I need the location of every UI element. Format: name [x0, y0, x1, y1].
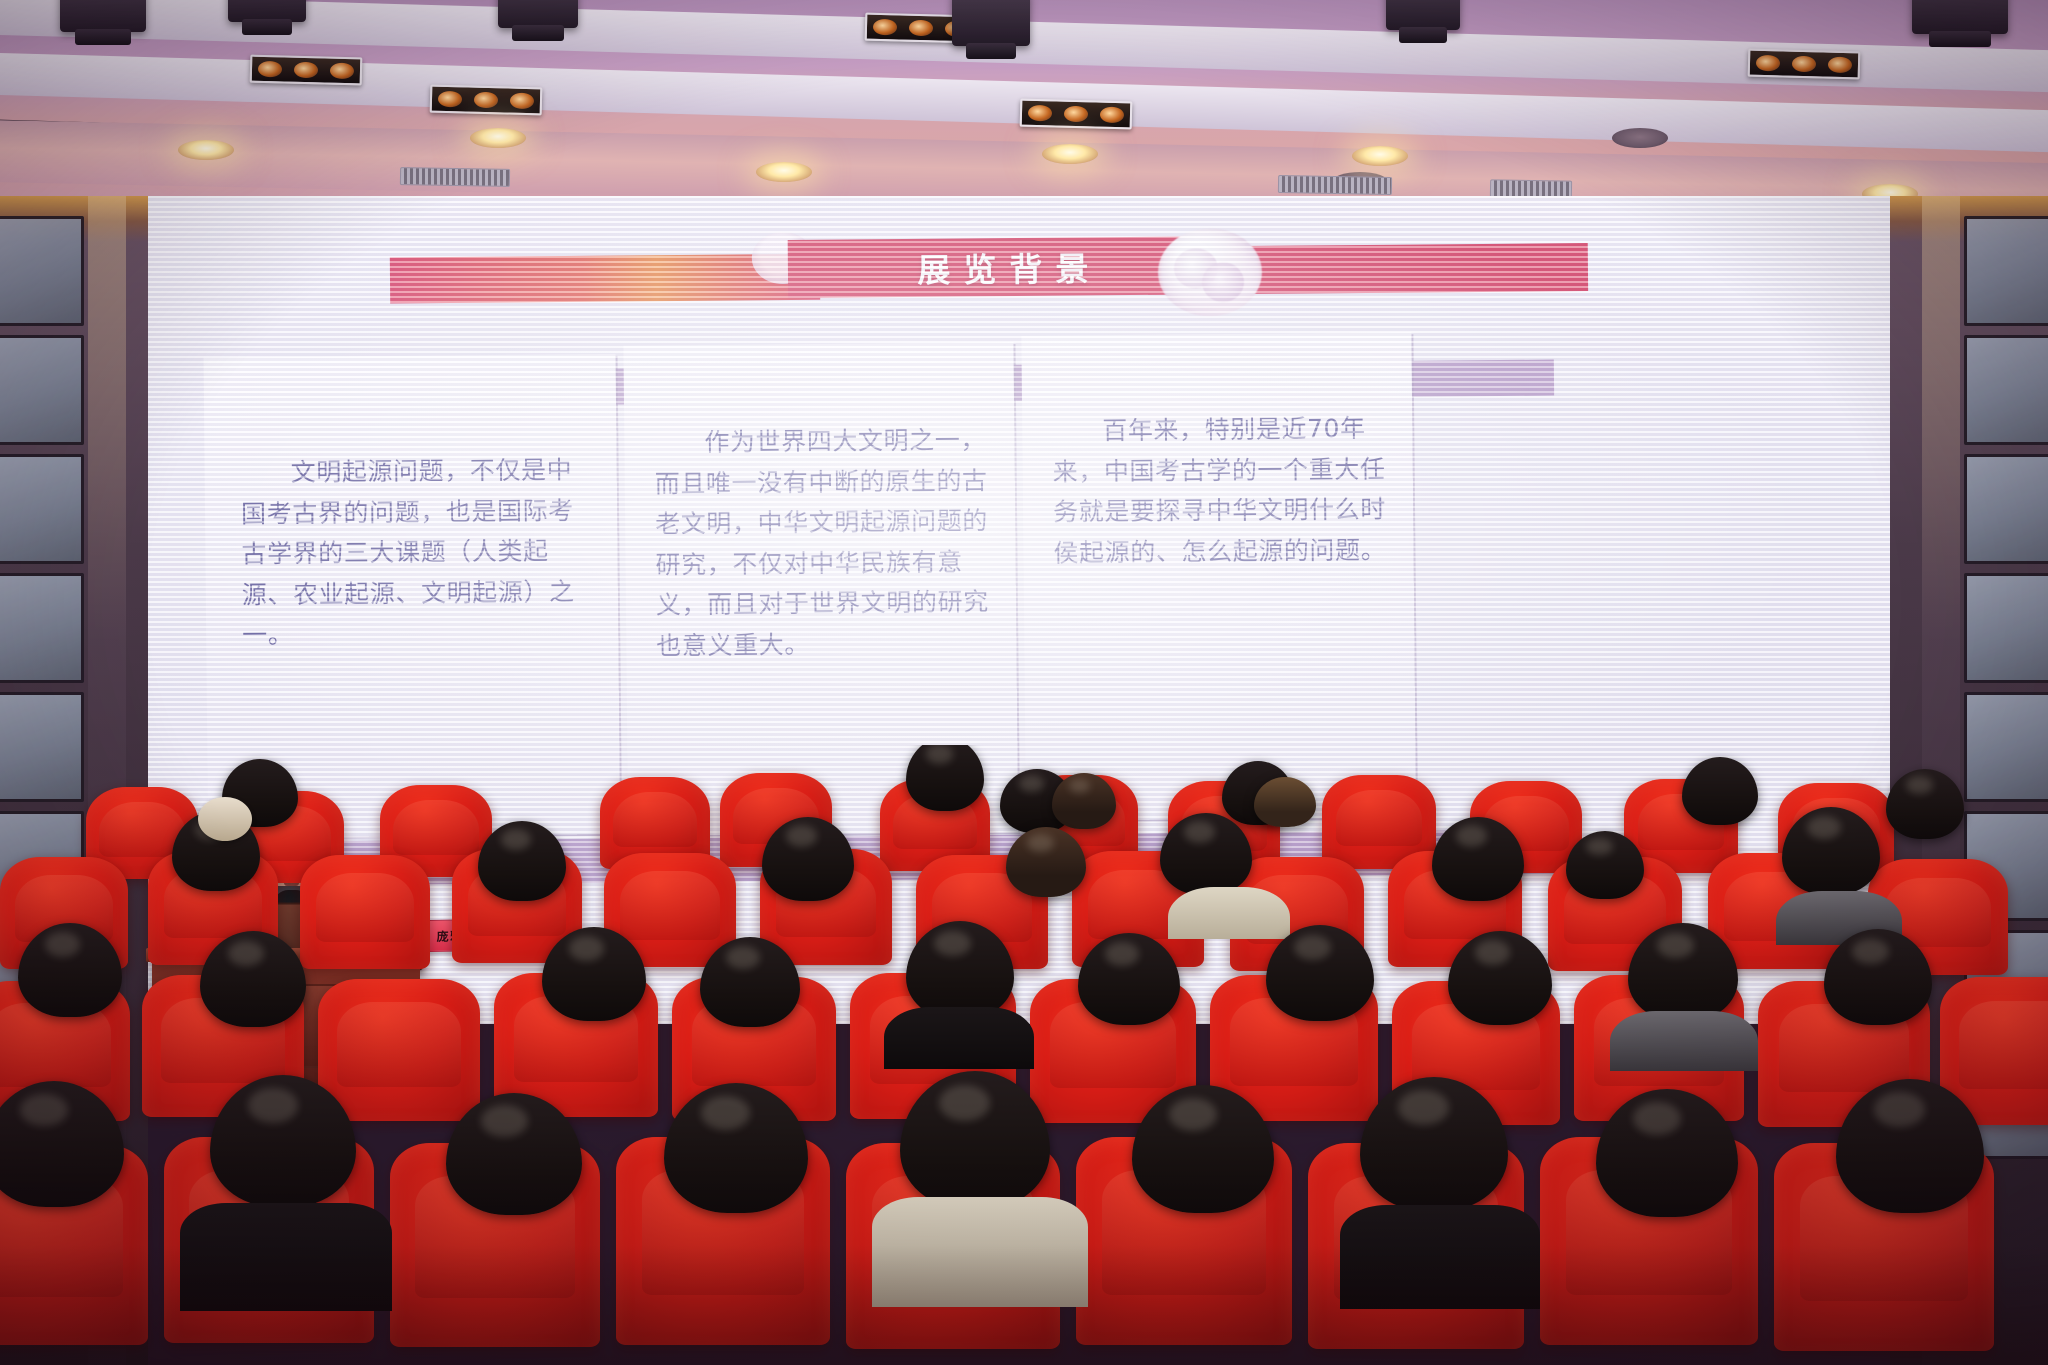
stage-light-fixture: [498, 0, 578, 28]
ceiling-spotlight-fixture: [430, 85, 543, 116]
stage-light-fixture: [60, 0, 146, 32]
audience-shoulders: [180, 1203, 392, 1311]
wall-panel: [0, 335, 84, 445]
slide-card-text: 百年来，特别是近70年来，中国考古学的一个重大任务就是要探寻中华文明什么时侯起源…: [1052, 408, 1394, 573]
ceiling-downlight: [470, 128, 526, 148]
stage-light-fixture: [228, 0, 306, 22]
wall-panel: [1964, 573, 2048, 683]
audience-head: [1254, 777, 1316, 827]
ceiling-downlight: [1042, 144, 1098, 164]
wall-panel: [1964, 216, 2048, 326]
audience-head: [200, 931, 306, 1027]
auditorium-seat: [318, 979, 480, 1121]
lecture-hall-photo: 展览背景 文明起源问题，不仅是中国考古界的问题，也是国际考古学界的三大课题（人类…: [0, 0, 2048, 1365]
audience-hair-bun: [198, 797, 252, 841]
ceiling-downlight: [178, 140, 234, 160]
ceiling-air-vent: [400, 167, 510, 187]
ceiling-spotlight-fixture: [250, 55, 363, 86]
audience-shoulders: [1610, 1011, 1758, 1071]
ceiling-spotlight-fixture: [1748, 49, 1861, 80]
audience-shoulders: [1340, 1205, 1540, 1309]
stage-light-fixture: [952, 0, 1030, 46]
ceiling-downlight: [756, 162, 812, 182]
audience-head: [1448, 931, 1552, 1025]
wall-panel: [0, 573, 84, 683]
wall-panel: [1964, 335, 2048, 445]
audience-shoulders: [884, 1007, 1034, 1069]
audience-head: [1052, 773, 1116, 829]
ceiling-downlight: [1352, 146, 1408, 166]
ceiling-air-vent: [1278, 175, 1392, 195]
auditorium-seat: [300, 855, 430, 969]
audience-shoulders: [1168, 887, 1290, 939]
audience-seating: [0, 745, 2048, 1365]
stage-light-fixture: [1912, 0, 2008, 34]
audience-head: [1886, 769, 1964, 839]
audience-head: [1682, 757, 1758, 825]
wall-panel: [0, 216, 84, 326]
audience-head: [762, 817, 854, 901]
stage-light-fixture: [1386, 0, 1460, 30]
slide-card-text: 文明起源问题，不仅是中国考古界的问题，也是国际考古学界的三大课题（人类起源、农业…: [240, 450, 592, 656]
ceiling-spotlight-fixture: [1020, 99, 1133, 130]
audience-head: [478, 821, 566, 901]
ceiling: [0, 0, 2048, 205]
wall-panel: [1964, 454, 2048, 564]
slide-card-text: 作为世界四大文明之一，而且唯一没有中断的原生的古老文明，中华文明起源问题的研究，…: [654, 420, 996, 666]
wall-panel: [0, 454, 84, 564]
ceiling-downlight: [1612, 128, 1668, 148]
audience-shoulders: [872, 1197, 1088, 1307]
audience-head: [906, 745, 984, 811]
